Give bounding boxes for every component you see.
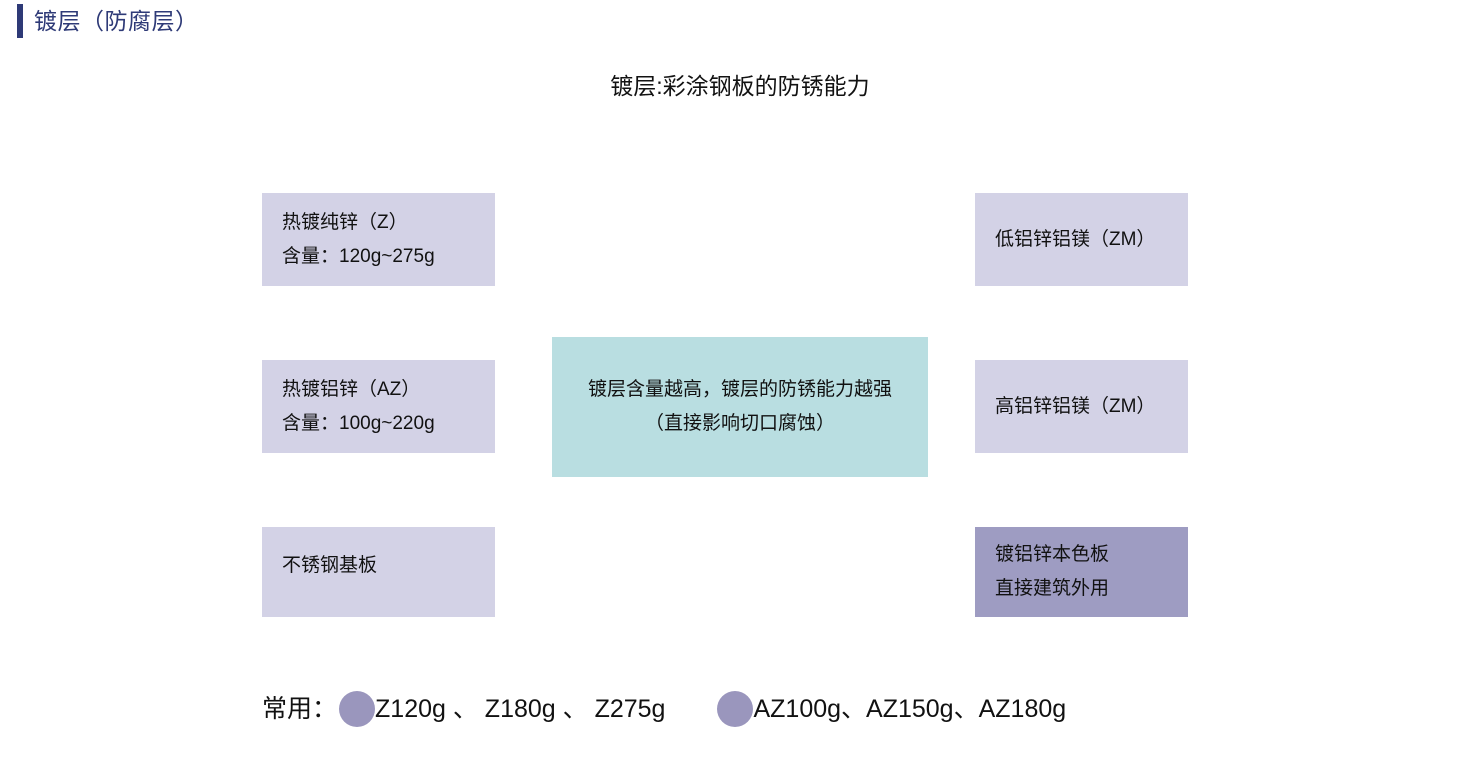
legend-label: 常用： xyxy=(262,686,337,732)
node-line: 含量：100g~220g xyxy=(282,407,475,441)
node-line: 热镀纯锌（Z） xyxy=(282,206,475,240)
node-bare-galvalume-panel: 镀铝锌本色板 直接建筑外用 xyxy=(975,527,1188,617)
node-line: 直接建筑外用 xyxy=(995,572,1168,606)
node-hot-dip-zinc: 热镀纯锌（Z） 含量：120g~275g xyxy=(262,193,495,286)
legend-item-z: Z120g 、 Z180g 、 Z275g xyxy=(375,686,665,732)
header-accent-bar xyxy=(17,4,23,38)
legend-dot-icon xyxy=(339,691,375,727)
legend: 常用： Z120g 、 Z180g 、 Z275g AZ100g、AZ150g、… xyxy=(262,686,1066,732)
legend-dot-icon xyxy=(717,691,753,727)
node-line: 低铝锌铝镁（ZM） xyxy=(995,223,1168,257)
node-high-al-zn-mg: 高铝锌铝镁（ZM） xyxy=(975,360,1188,453)
chart-title: 镀层:彩涂钢板的防锈能力 xyxy=(0,68,1480,104)
node-hot-dip-galvalume: 热镀铝锌（AZ） 含量：100g~220g xyxy=(262,360,495,453)
node-stainless-substrate: 不锈钢基板 xyxy=(262,527,495,617)
node-line: 不锈钢基板 xyxy=(282,549,475,583)
node-line: 镀层含量越高，镀层的防锈能力越强 xyxy=(588,373,892,407)
node-line: 热镀铝锌（AZ） xyxy=(282,373,475,407)
node-low-al-zn-mg: 低铝锌铝镁（ZM） xyxy=(975,193,1188,286)
node-line: （直接影响切口腐蚀） xyxy=(645,407,835,441)
node-line: 高铝锌铝镁（ZM） xyxy=(995,390,1168,424)
page-title: 镀层（防腐层） xyxy=(34,2,199,40)
node-line: 镀铝锌本色板 xyxy=(995,538,1168,572)
node-key-message: 镀层含量越高，镀层的防锈能力越强 （直接影响切口腐蚀） xyxy=(552,337,928,477)
slide-header: 镀层（防腐层） xyxy=(0,0,1480,44)
node-line: 含量：120g~275g xyxy=(282,240,475,274)
legend-item-az: AZ100g、AZ150g、AZ180g xyxy=(753,686,1066,732)
